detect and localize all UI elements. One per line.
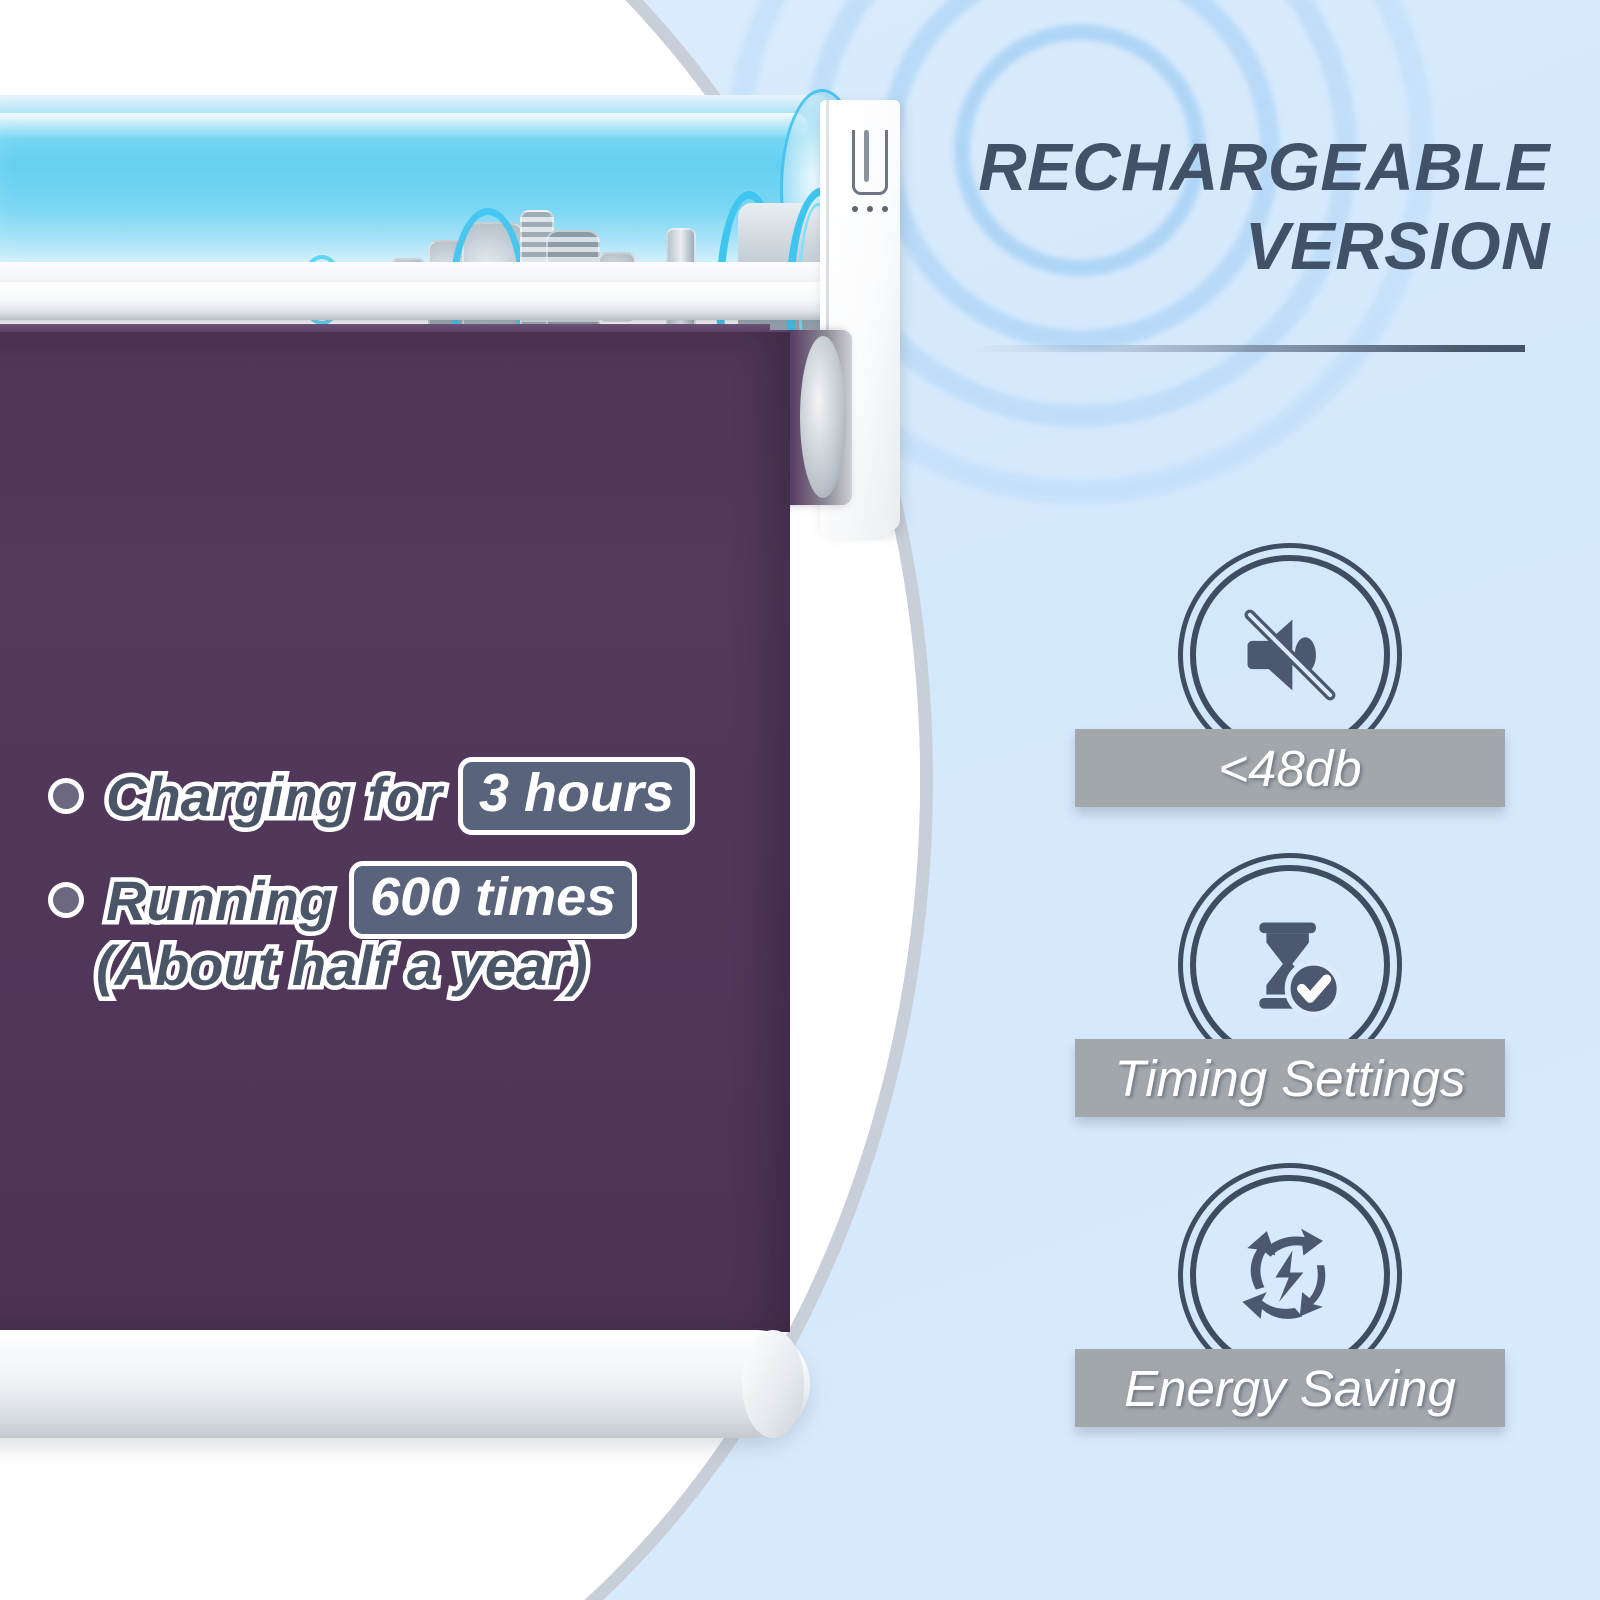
- usb-port-icon: [852, 130, 888, 195]
- led-dot: [852, 206, 858, 212]
- product-infographic: RECHARGEABLE VERSION Charging for 3 hour…: [0, 0, 1600, 1600]
- feature-label: Timing Settings: [1114, 1049, 1465, 1108]
- bullet-highlight-chip: 600 times: [349, 861, 637, 939]
- feature-bullet-list: Charging for 3 hours Running 600 times (…: [38, 757, 738, 998]
- feature-badge-noise: <48db: [1055, 555, 1525, 807]
- title-line-2: VERSION: [930, 207, 1550, 286]
- status-badge: Timing Settings: [1075, 1039, 1505, 1117]
- status-badge: Energy Saving: [1075, 1349, 1505, 1427]
- energy-recycle-bolt-icon: [1190, 1175, 1390, 1375]
- bullet-note: (About half a year): [96, 933, 738, 998]
- feature-badge-timing: Timing Settings: [1055, 865, 1525, 1117]
- status-badge: <48db: [1075, 729, 1505, 807]
- head-rail: [0, 282, 880, 320]
- list-item: Running 600 times (About half a year): [38, 861, 738, 998]
- led-dot: [867, 206, 873, 212]
- title-line-1: RECHARGEABLE: [930, 128, 1550, 207]
- bullet-text: Charging for: [106, 764, 442, 829]
- list-item: Charging for 3 hours: [38, 757, 738, 835]
- hourglass-check-glyph: [1231, 906, 1349, 1024]
- feature-label: <48db: [1218, 739, 1361, 798]
- bullet-highlight-chip: 3 hours: [458, 757, 695, 835]
- mute-speaker-icon: [1190, 555, 1390, 755]
- page-title: RECHARGEABLE VERSION: [930, 128, 1550, 286]
- usb-port-slot-icon: [864, 130, 869, 182]
- bullet-dot-icon: [48, 778, 84, 814]
- bottom-rail: [0, 1330, 810, 1438]
- bottom-rail-cap: [742, 1330, 804, 1438]
- roller-end-cap: [800, 336, 846, 498]
- bullet-text: Running: [106, 868, 333, 933]
- hourglass-check-icon: [1190, 865, 1390, 1065]
- led-dot: [882, 206, 888, 212]
- led-indicator-group: [852, 205, 888, 213]
- bullet-dot-icon: [48, 882, 84, 918]
- title-divider: [960, 345, 1525, 352]
- mute-speaker-glyph: [1231, 596, 1349, 714]
- energy-recycle-bolt-glyph: [1229, 1214, 1351, 1336]
- feature-label: Energy Saving: [1124, 1359, 1456, 1418]
- feature-badge-energy: Energy Saving: [1055, 1175, 1525, 1427]
